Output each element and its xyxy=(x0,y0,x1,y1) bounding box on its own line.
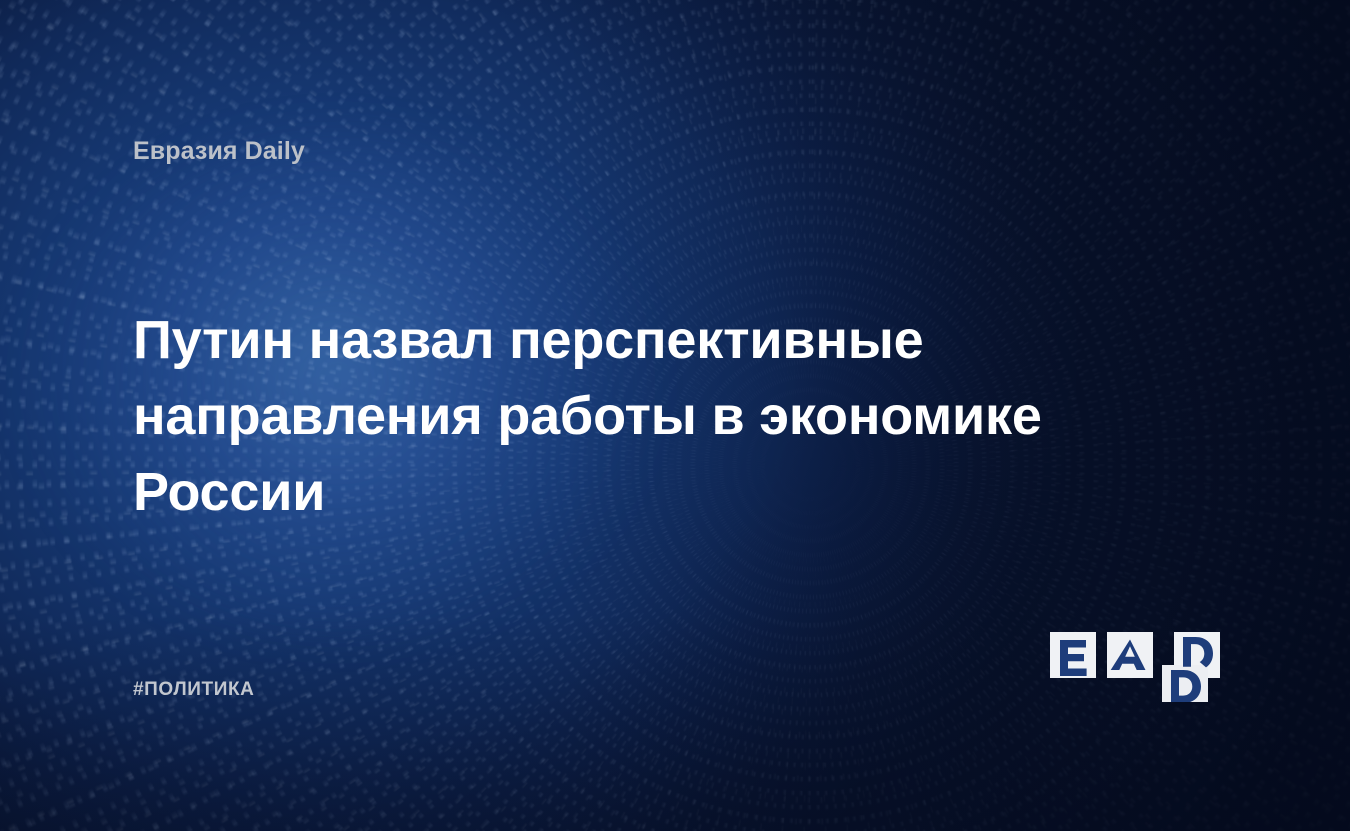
eadaily-logo-icon xyxy=(1048,630,1224,702)
brand-name: Евразия Daily xyxy=(133,137,305,166)
category-hashtag: #ПОЛИТИКА xyxy=(133,679,255,701)
headline-title: Путин назвал перспективные направления р… xyxy=(133,302,1063,530)
card-content: Евразия Daily Путин назвал перспективные… xyxy=(0,0,1350,831)
social-share-card: Евразия Daily Путин назвал перспективные… xyxy=(0,0,1350,831)
eadaily-logo xyxy=(1048,630,1224,702)
